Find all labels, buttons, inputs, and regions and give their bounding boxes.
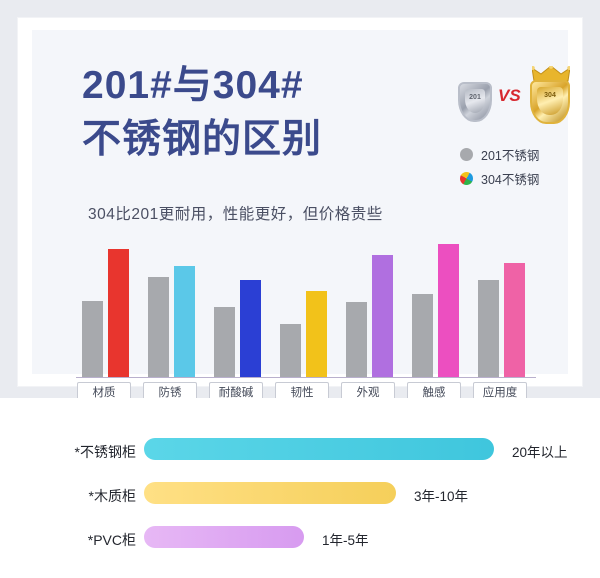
- silver-medal-label: 201: [460, 94, 490, 101]
- bar-chart: [76, 238, 536, 378]
- lifespan-bar: [144, 438, 494, 460]
- legend-swatch-icon-304: [460, 172, 473, 185]
- gold-shield-icon: 304: [530, 80, 570, 124]
- legend-swatch-icon-201: [460, 148, 473, 161]
- infographic-page: 201#与304# 不锈钢的区别 304比201更耐用，性能更好，但价格贵些 2…: [0, 0, 600, 578]
- bar-201: [412, 294, 433, 377]
- chart-legend: 201不锈钢 304不锈钢: [460, 142, 590, 190]
- bar-201: [478, 280, 499, 377]
- lifespan-row: *不锈钢柜20年以上: [40, 438, 560, 468]
- lifespan-row-label: *不锈钢柜: [40, 442, 136, 462]
- gold-medal-label: 304: [532, 92, 568, 99]
- bar-201: [214, 307, 235, 377]
- bar-304: [174, 266, 195, 377]
- bar-201: [346, 302, 367, 377]
- lifespan-comparison: *不锈钢柜20年以上*木质柜3年-10年*PVC柜1年-5年: [0, 398, 600, 578]
- lifespan-row: *PVC柜1年-5年: [40, 526, 560, 556]
- bar-group: [142, 238, 204, 377]
- card-inner-panel: 201#与304# 不锈钢的区别 304比201更耐用，性能更好，但价格贵些 2…: [32, 30, 568, 374]
- lifespan-row-label: *PVC柜: [40, 530, 136, 550]
- legend-label-304: 304不锈钢: [481, 169, 539, 188]
- lifespan-row-value: 3年-10年: [414, 485, 468, 505]
- bar-304: [108, 249, 129, 377]
- headline-line-1: 201#与304#: [82, 64, 304, 107]
- shield-face: [465, 89, 485, 113]
- lifespan-row: *木质柜3年-10年: [40, 482, 560, 512]
- lifespan-bar: [144, 482, 396, 504]
- legend-label-201: 201不锈钢: [481, 145, 539, 164]
- subtitle: 304比201更耐用，性能更好，但价格贵些: [88, 202, 383, 224]
- lifespan-row-value: 1年-5年: [322, 529, 369, 549]
- bar-201: [82, 301, 103, 377]
- bar-201: [280, 324, 301, 377]
- bar-group: [406, 238, 468, 377]
- chart-axis-line: [76, 377, 536, 378]
- bar-group: [208, 238, 270, 377]
- page-title: 201#与304# 不锈钢的区别: [82, 62, 322, 164]
- bar-201: [148, 277, 169, 377]
- legend-item-201: 201不锈钢: [460, 142, 590, 166]
- bar-group: [76, 238, 138, 377]
- bar-group: [472, 238, 534, 377]
- bar-304: [504, 263, 525, 377]
- lifespan-row-label: *木质柜: [40, 486, 136, 506]
- gold-medal-icon: 304: [530, 66, 574, 124]
- bar-304: [438, 244, 459, 377]
- medal-group: 201 VS 304: [452, 66, 582, 132]
- bar-group: [340, 238, 402, 377]
- lifespan-bar: [144, 526, 304, 548]
- comparison-card: 201#与304# 不锈钢的区别 304比201更耐用，性能更好，但价格贵些 2…: [18, 18, 582, 386]
- shield-icon: 201: [458, 82, 492, 122]
- bar-304: [306, 291, 327, 377]
- headline-line-2: 不锈钢的区别: [82, 116, 322, 164]
- bar-304: [372, 255, 393, 377]
- legend-item-304: 304不锈钢: [460, 166, 590, 190]
- bar-group: [274, 238, 336, 377]
- vs-label: VS: [498, 86, 521, 106]
- bar-304: [240, 280, 261, 377]
- lifespan-row-value: 20年以上: [512, 441, 568, 461]
- silver-medal-icon: 201: [458, 74, 492, 124]
